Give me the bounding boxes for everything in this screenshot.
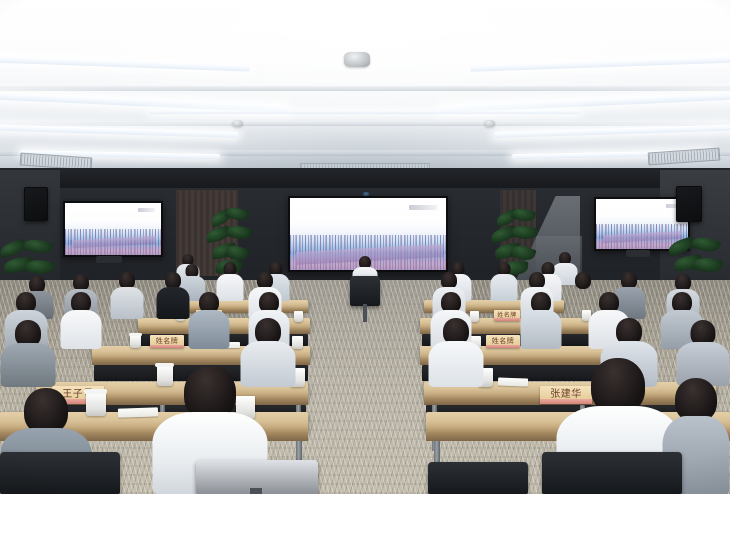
screen-sky xyxy=(290,198,446,235)
conference-hall-photo: 姓名牌 姓名牌 xyxy=(0,0,730,494)
handout-papers xyxy=(498,377,528,386)
nameplate: 姓名牌 xyxy=(150,335,184,348)
list-item xyxy=(110,272,144,318)
plant-leaf xyxy=(511,224,538,242)
plant-leaf xyxy=(511,206,536,224)
left-display-image xyxy=(65,203,161,255)
right-display-mount xyxy=(626,250,650,257)
page-background xyxy=(0,494,730,548)
wall-speaker xyxy=(676,186,702,222)
paper-cup xyxy=(130,335,141,348)
attendee-torso xyxy=(521,310,562,349)
chair-post xyxy=(363,304,367,322)
screen-sky xyxy=(596,199,688,225)
ceiling-speaker-icon xyxy=(232,120,243,127)
list-item xyxy=(490,262,518,300)
smoke-detector-icon xyxy=(344,52,370,67)
plant-leaf xyxy=(225,205,250,223)
attendee-torso xyxy=(157,287,190,319)
screen-sky xyxy=(65,203,161,230)
ceiling-beam xyxy=(0,122,730,126)
list-item xyxy=(188,292,230,348)
chair xyxy=(542,452,682,494)
chair xyxy=(350,276,380,306)
ceiling-light-glow xyxy=(0,0,730,186)
screen-camera-icon xyxy=(362,192,370,196)
ceiling-speaker-icon xyxy=(484,120,495,127)
front-wall-upper-band xyxy=(0,168,730,188)
plant-leaf xyxy=(23,237,53,256)
plant-leaf xyxy=(691,235,721,255)
nameplate-label: 姓名牌 xyxy=(492,338,515,345)
list-item xyxy=(0,320,56,384)
nameplate: 姓名牌 xyxy=(486,335,520,348)
left-side-display[interactable] xyxy=(63,201,163,257)
paper-cup-lid xyxy=(129,333,142,336)
nameplate-label: 姓名牌 xyxy=(497,313,517,319)
ceiling-beam xyxy=(0,86,730,91)
list-item xyxy=(520,292,562,348)
plant-leaf xyxy=(226,223,252,241)
ceiling xyxy=(0,0,730,186)
attendee-torso xyxy=(491,274,518,301)
nameplate: 姓名牌 xyxy=(494,310,520,321)
wall-speaker xyxy=(24,187,48,221)
list-item xyxy=(156,272,190,318)
attendee-torso xyxy=(61,310,102,349)
left-display-mount xyxy=(96,256,122,263)
attendee-torso xyxy=(429,341,484,387)
screen-watermark xyxy=(138,208,155,212)
attendee-torso xyxy=(111,287,144,319)
plant-leaf xyxy=(25,258,55,276)
nameplate-label: 姓名牌 xyxy=(156,338,179,345)
attendee-torso xyxy=(1,343,56,387)
list-item xyxy=(428,318,484,384)
chair xyxy=(0,452,120,494)
plant-leaf xyxy=(693,256,723,275)
screen-watermark xyxy=(409,205,437,209)
ceiling-light-strip xyxy=(150,110,580,114)
list-item xyxy=(676,320,730,384)
list-item xyxy=(60,292,102,348)
chair xyxy=(428,462,528,494)
attendee-torso xyxy=(189,310,230,349)
